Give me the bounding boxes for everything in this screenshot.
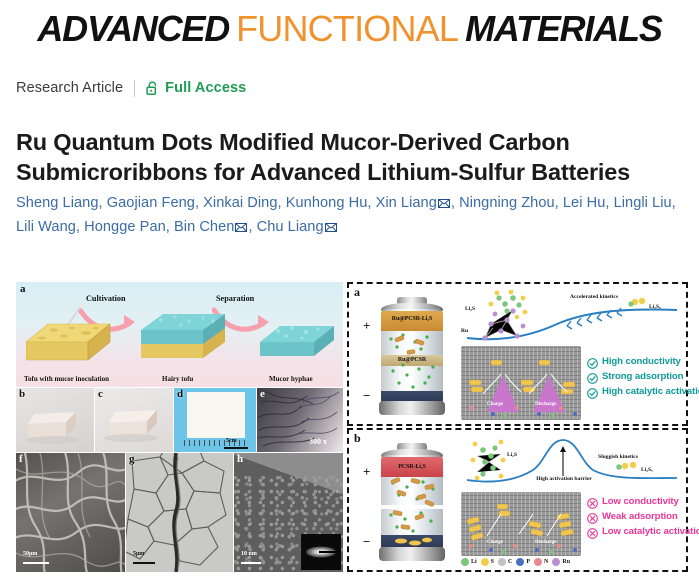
masthead-word-materials: MATERIALS [465, 8, 662, 49]
legend-item-p: P [516, 558, 530, 566]
check-circle-icon [587, 371, 598, 382]
legend-item-n: N [534, 558, 548, 566]
negative-terminal-b: − [363, 535, 370, 548]
panel-label-e: e [260, 388, 265, 400]
carbon-film-sample [187, 392, 245, 438]
email-envelope-icon[interactable] [235, 217, 247, 226]
atom-legend: Li S C P N [461, 558, 570, 566]
panel-a-caption-1: Tofu with mucor inoculation [24, 375, 109, 383]
catalytic-surface-a: Charge Discharge [461, 346, 581, 420]
legend-dot-li [461, 558, 469, 566]
catalytic-surface-b: Charge Discharge [461, 492, 581, 556]
hairy-tofu-illustration [141, 312, 233, 370]
figure-gallery: a Cultivation Separation [16, 282, 688, 572]
legend-item-ru: Ru [552, 558, 570, 566]
legend-label-s: S [491, 559, 494, 565]
figure-panel-g: g 5μ [126, 453, 233, 572]
kinetics-diagram-b: Li₂S High activation barrier Sluggish ki… [461, 436, 683, 490]
li2s-label-a: Li₂S [465, 306, 475, 312]
panel-label-a-right: a [354, 285, 360, 300]
disadvantages-list: Low conductivity Weak adsorption Low cat… [587, 496, 699, 541]
list-item: Strong adsorption [587, 371, 699, 382]
figure-panel-a: a Cultivation Separation [16, 282, 343, 387]
advantage-1: High conductivity [602, 356, 681, 367]
authors-segment-4[interactable]: , Chu Liang [248, 219, 323, 235]
charge-label-b: Charge [487, 540, 503, 545]
battery-body: Ru@PCSR-Li₂S Ru@PCSR [381, 309, 443, 405]
disadvantage-1: Low conductivity [602, 496, 679, 507]
x-circle-icon [587, 511, 598, 522]
accelerated-kinetics-label: Accelerated kinetics [569, 294, 619, 300]
disadvantage-2: Weak adsorption [602, 511, 678, 522]
panel-label-g: g [129, 453, 135, 465]
check-circle-icon [587, 356, 598, 367]
list-item: Low conductivity [587, 496, 699, 507]
article-preview-page: ADVANCEDFUNCTIONALMATERIALS Research Art… [0, 0, 699, 576]
panel-label-b-right: b [354, 431, 361, 446]
scalebar-h [241, 562, 261, 564]
masthead-word-functional: FUNCTIONAL [236, 8, 458, 49]
article-meta-bar: Research Article Full Access [16, 78, 246, 98]
legend-item-li: Li [461, 558, 477, 566]
panel-a-caption-3: Mucor hyphae [269, 375, 313, 383]
li2s-label-b: Li₂S [507, 452, 517, 458]
discharge-label-a: Discharge [535, 402, 556, 407]
article-type-label: Research Article [16, 80, 123, 96]
scalebar-d [224, 447, 248, 449]
mechanism-panel-a: a Ru@PCSR-Li₂S Ru@PCSR [347, 282, 688, 426]
figure-panel-h: h 10 nm [234, 453, 343, 572]
legend-item-s: S [481, 558, 494, 566]
legend-dot-n [534, 558, 542, 566]
mechanism-panel-b: b PCSR-Li₂S [347, 428, 688, 572]
advantage-3: High catalytic activation [602, 386, 699, 397]
scalebar-g [133, 562, 155, 564]
figure-panel-d: d 5cm [174, 388, 256, 452]
list-item: High conductivity [587, 356, 699, 367]
scalebar-f [23, 562, 49, 564]
battery-illustration-b: PCSR-Li₂S [375, 443, 449, 559]
author-list: Sheng Liang, Gaojian Feng, Xinkai Ding, … [16, 192, 688, 239]
legend-label-ru: Ru [562, 559, 570, 565]
scalebar-label-h: 10 nm [241, 551, 257, 557]
panel-label-b: b [19, 388, 25, 400]
scalebar-label-f: 50μm [23, 551, 37, 557]
cathode-label-a: Ru@PCSR-Li₂S [381, 316, 443, 322]
legend-label-p: P [526, 559, 530, 565]
advantage-2: Strong adsorption [602, 371, 683, 382]
journal-masthead: ADVANCEDFUNCTIONALMATERIALS [0, 0, 699, 58]
panel-label-d: d [177, 388, 183, 400]
panel-label-a: a [20, 283, 26, 295]
check-circle-icon [587, 386, 598, 397]
legend-label-n: N [544, 559, 548, 565]
disadvantage-3: Low catalytic activation [602, 526, 699, 537]
legend-dot-c [498, 558, 506, 566]
x-circle-icon [587, 526, 598, 537]
tofu-block-illustration [26, 320, 118, 370]
discharge-label-b: Discharge [535, 540, 556, 545]
figure-panel-c: c [95, 388, 173, 452]
scalebar-label-e: 300 x [309, 437, 327, 446]
list-item: High catalytic activation [587, 386, 699, 397]
figure-panel-e: e 300 x [257, 388, 343, 452]
charge-label-a: Charge [487, 402, 503, 407]
panel-a-caption-2: Hairy tofu [162, 375, 193, 383]
legend-dot-s [481, 558, 489, 566]
ruler [184, 440, 248, 446]
mucor-hyphae-illustration [260, 322, 340, 370]
authors-segment-3[interactable]: Lili Wang, Hongge Pan, Bin Chen [16, 219, 234, 235]
scalebar-label-d: 5cm [226, 438, 237, 444]
email-envelope-icon[interactable] [438, 193, 450, 202]
panel-label-c: c [98, 388, 103, 400]
positive-terminal-b: + [363, 465, 370, 478]
meta-divider [134, 80, 135, 97]
panel-label-h: h [237, 453, 243, 465]
email-envelope-icon[interactable] [325, 217, 337, 226]
cultivation-label: Cultivation [86, 294, 126, 303]
legend-label-c: C [508, 559, 512, 565]
legend-label-li: Li [471, 559, 477, 565]
sluggish-kinetics-label: Sluggish kinetics [597, 454, 639, 460]
panel-label-f: f [19, 453, 23, 465]
kinetics-diagram-a: Li₂S Ru Accelerated kinetics Li₂Sₓ [461, 290, 683, 344]
ru-label-a: Ru [461, 328, 468, 334]
scalebar-label-g: 5μm [133, 551, 144, 557]
page-title: Ru Quantum Dots Modified Mucor-Derived C… [16, 127, 676, 188]
positive-terminal-a: + [363, 319, 370, 332]
figure-synthesis[interactable]: a Cultivation Separation [16, 282, 343, 572]
x-circle-icon [587, 496, 598, 507]
full-access-label: Full Access [165, 80, 246, 96]
saed-inset [301, 534, 341, 570]
advantages-list: High conductivity Strong adsorption High… [587, 356, 699, 401]
cathode-label-b: PCSR-Li₂S [381, 464, 443, 470]
authors-segment-2[interactable]: , Ningning Zhou, Lei Hu, Lingli Liu, [451, 195, 676, 211]
full-access-badge[interactable]: Full Access [146, 80, 246, 96]
negative-terminal-a: − [363, 389, 370, 402]
activation-barrier-label: High activation barrier [535, 476, 593, 482]
battery-body: PCSR-Li₂S [381, 455, 443, 551]
separation-label: Separation [216, 294, 254, 303]
li2sx-label-a: Li₂Sₓ [649, 304, 661, 310]
li2sx-label-b: Li₂Sₓ [641, 467, 653, 473]
journal-title: ADVANCEDFUNCTIONALMATERIALS [37, 11, 661, 47]
figure-panel-b: b [16, 388, 94, 452]
authors-segment-1[interactable]: Sheng Liang, Gaojian Feng, Xinkai Ding, … [16, 195, 437, 211]
figure-panel-f: f [16, 453, 125, 572]
open-padlock-icon [146, 81, 159, 95]
legend-item-c: C [498, 558, 512, 566]
masthead-word-advanced: ADVANCED [37, 8, 229, 49]
legend-dot-p [516, 558, 524, 566]
interlayer-label-a: Ru@PCSR [381, 357, 443, 363]
battery-illustration-a: Ru@PCSR-Li₂S Ru@PCSR [375, 297, 449, 413]
figure-mechanism[interactable]: a Ru@PCSR-Li₂S Ru@PCSR [347, 282, 688, 572]
list-item: Weak adsorption [587, 511, 699, 522]
battery-base [379, 547, 445, 561]
list-item: Low catalytic activation [587, 526, 699, 537]
battery-base [379, 401, 445, 415]
legend-dot-ru [552, 558, 560, 566]
